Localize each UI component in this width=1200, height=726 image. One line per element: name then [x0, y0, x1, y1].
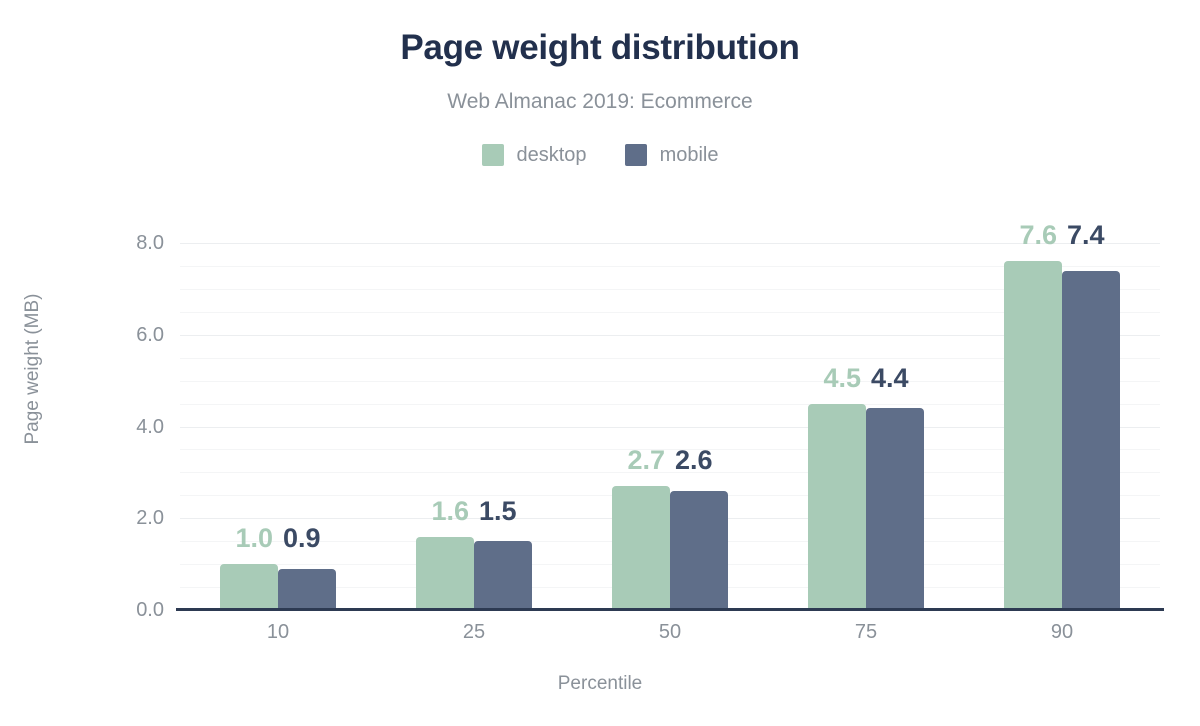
bar-desktop-50[interactable]	[612, 486, 670, 610]
x-axis-baseline	[176, 608, 1164, 611]
x-axis-tick-label-10: 10	[220, 620, 336, 644]
y-axis-tick-label: 4.0	[108, 417, 164, 437]
bar-value-label-mobile-10: 0.9	[283, 523, 321, 553]
bar-value-labels: 2.72.6	[612, 445, 728, 475]
bar-mobile-25[interactable]	[474, 541, 532, 610]
bars-row	[808, 404, 924, 610]
bar-desktop-10[interactable]	[220, 564, 278, 610]
desktop-swatch-icon	[482, 144, 504, 166]
y-axis-tick-label: 0.0	[108, 600, 164, 620]
y-axis-tick-label: 8.0	[108, 233, 164, 253]
bar-value-label-desktop-10: 1.0	[235, 523, 273, 553]
bar-group-75: 4.54.4	[808, 243, 924, 610]
chart-subtitle: Web Almanac 2019: Ecommerce	[0, 88, 1200, 116]
x-axis-tick-label-50: 50	[612, 620, 728, 644]
bar-value-labels: 1.61.5	[416, 496, 532, 526]
bar-group-25: 1.61.5	[416, 243, 532, 610]
bar-mobile-50[interactable]	[670, 491, 728, 610]
bar-value-label-desktop-75: 4.5	[823, 363, 861, 393]
bar-mobile-10[interactable]	[278, 569, 336, 610]
bars-row	[612, 486, 728, 610]
bar-group-50: 2.72.6	[612, 243, 728, 610]
x-axis-tick-label-75: 75	[808, 620, 924, 644]
bar-value-labels: 1.00.9	[220, 523, 336, 553]
chart-legend: desktopmobile	[0, 140, 1200, 170]
bar-value-label-desktop-50: 2.7	[627, 445, 665, 475]
y-axis-tick-label: 2.0	[108, 508, 164, 528]
bar-value-label-desktop-25: 1.6	[431, 496, 469, 526]
page-weight-distribution-chart: Page weight distribution Web Almanac 201…	[0, 0, 1200, 726]
x-axis-tick-label-90: 90	[1004, 620, 1120, 644]
x-axis-tick-label-25: 25	[416, 620, 532, 644]
bars-row	[416, 537, 532, 610]
bar-group-90: 7.67.4	[1004, 243, 1120, 610]
mobile-swatch-icon	[625, 144, 647, 166]
bar-value-labels: 7.67.4	[1004, 220, 1120, 250]
bar-mobile-90[interactable]	[1062, 271, 1120, 610]
chart-title: Page weight distribution	[0, 26, 1200, 70]
bar-desktop-75[interactable]	[808, 404, 866, 610]
y-axis-tick-label: 6.0	[108, 325, 164, 345]
bar-mobile-75[interactable]	[866, 408, 924, 610]
bar-desktop-90[interactable]	[1004, 261, 1062, 610]
bar-group-10: 1.00.9	[220, 243, 336, 610]
legend-item-mobile[interactable]: mobile	[625, 140, 719, 170]
legend-label: desktop	[517, 144, 587, 166]
bar-value-labels: 4.54.4	[808, 363, 924, 393]
legend-label: mobile	[660, 144, 719, 166]
bar-value-label-mobile-50: 2.6	[675, 445, 713, 475]
bars-row	[1004, 261, 1120, 610]
bars-row	[220, 564, 336, 610]
bar-value-label-mobile-25: 1.5	[479, 496, 517, 526]
plot-area: 1.00.91.61.52.72.64.54.47.67.4	[180, 243, 1160, 610]
bar-value-label-mobile-75: 4.4	[871, 363, 909, 393]
y-axis-title: Page weight (MB)	[22, 279, 44, 459]
x-axis-title: Percentile	[0, 672, 1200, 696]
bar-value-label-mobile-90: 7.4	[1067, 220, 1105, 250]
legend-item-desktop[interactable]: desktop	[482, 140, 587, 170]
bar-desktop-25[interactable]	[416, 537, 474, 610]
bar-value-label-desktop-90: 7.6	[1019, 220, 1057, 250]
